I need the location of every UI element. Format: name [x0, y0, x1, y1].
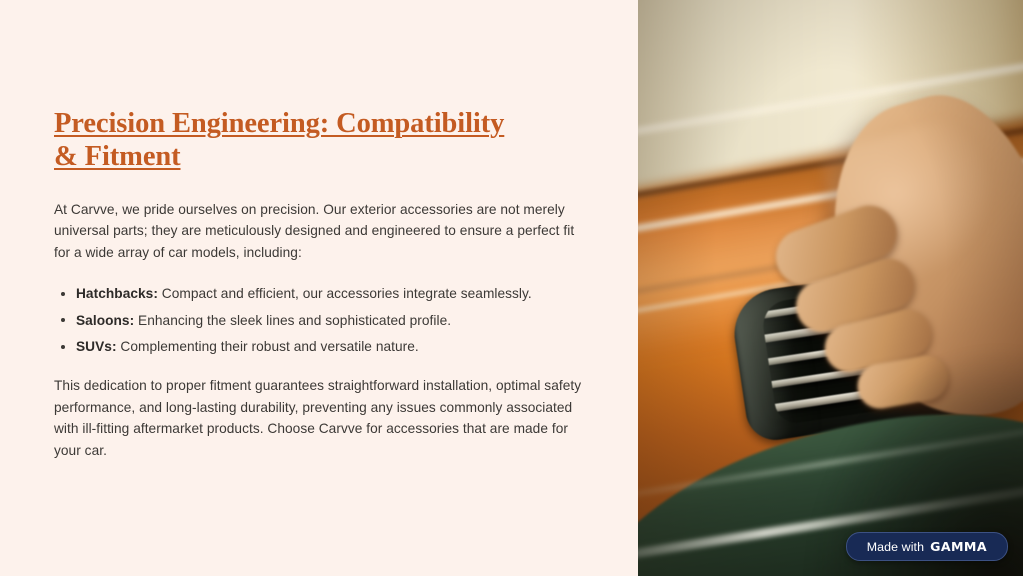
text-content: Precision Engineering: Compatibility & F…: [54, 107, 584, 461]
slide-canvas: Precision Engineering: Compatibility & F…: [0, 0, 1023, 576]
list-item-label: Hatchbacks:: [76, 286, 158, 301]
gamma-wordmark: GAMMA: [930, 539, 987, 554]
vehicle-type-list: Hatchbacks: Compact and efficient, our a…: [54, 283, 584, 357]
list-item-label: Saloons:: [76, 313, 134, 328]
badge-made-with-label: Made with: [867, 540, 924, 554]
page-title: Precision Engineering: Compatibility & F…: [54, 107, 524, 173]
text-panel: Precision Engineering: Compatibility & F…: [0, 0, 638, 576]
list-item-text: Complementing their robust and versatile…: [117, 339, 419, 354]
intro-paragraph: At Carvve, we pride ourselves on precisi…: [54, 199, 584, 263]
list-item-text: Compact and efficient, our accessories i…: [158, 286, 532, 301]
image-panel: Made with GAMMA: [638, 0, 1023, 576]
list-item: Saloons: Enhancing the sleek lines and s…: [54, 310, 584, 331]
list-item-text: Enhancing the sleek lines and sophistica…: [134, 313, 451, 328]
closing-paragraph: This dedication to proper fitment guaran…: [54, 375, 584, 461]
list-item: SUVs: Complementing their robust and ver…: [54, 336, 584, 357]
car-closeup-photo: [638, 0, 1023, 576]
list-item: Hatchbacks: Compact and efficient, our a…: [54, 283, 584, 304]
made-with-gamma-badge[interactable]: Made with GAMMA: [846, 532, 1008, 561]
list-item-label: SUVs:: [76, 339, 117, 354]
